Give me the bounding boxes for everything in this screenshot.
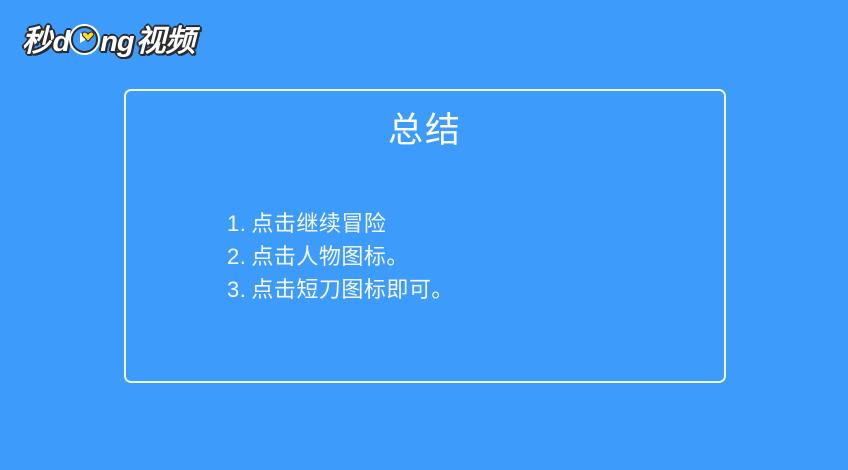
logo-text-group: 秒 d ng 视频: [22, 24, 195, 57]
page-title: 总结: [126, 112, 724, 151]
list-item-label: 点击人物图标。: [251, 245, 409, 270]
list-item: 3.点击短刀图标即可。: [227, 274, 454, 307]
list-item-label: 点击短刀图标即可。: [251, 278, 454, 303]
list-item: 2.点击人物图标。: [227, 241, 454, 274]
list-item-number: 2.: [227, 241, 246, 273]
logo-char-miao: 秒: [22, 27, 52, 57]
summary-steps-list: 1.点击继续冒险 2.点击人物图标。 3.点击短刀图标即可。: [227, 208, 454, 307]
list-item-label: 点击继续冒险: [251, 212, 386, 237]
logo-letter-d: d: [53, 28, 70, 57]
list-item-number: 1.: [227, 208, 246, 240]
list-item: 1.点击继续冒险: [227, 208, 454, 241]
logo-chars-shipin: 视频: [136, 27, 195, 57]
heart-icon: [82, 19, 94, 30]
slide-canvas: 秒 d ng 视频 总结 1.点击继续冒险 2.点击人物图标。 3.点击短刀图标…: [0, 0, 848, 470]
logo-letters-ng: ng: [100, 28, 133, 57]
list-item-number: 3.: [227, 274, 246, 306]
watermark-logo: 秒 d ng 视频: [22, 20, 195, 60]
summary-card: 总结 1.点击继续冒险 2.点击人物图标。 3.点击短刀图标即可。: [124, 89, 726, 383]
